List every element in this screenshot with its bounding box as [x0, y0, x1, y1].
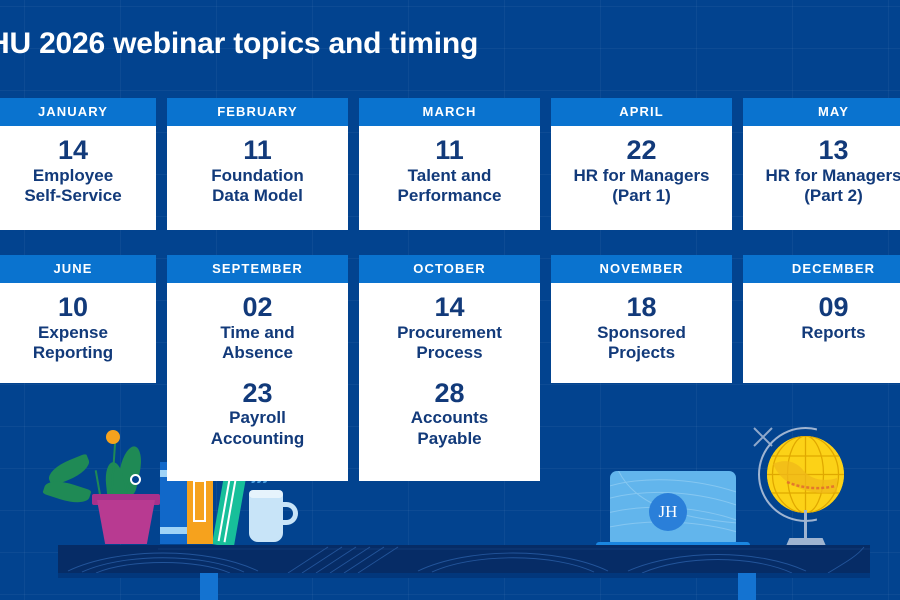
plant-pot-icon — [97, 500, 155, 544]
entry-day: 10 — [0, 292, 150, 322]
globe-stem — [804, 510, 807, 540]
entry-topic: Procurement Process — [365, 323, 534, 364]
entry-topic: HR for Managers (Part 2) — [749, 166, 900, 207]
entry-topic: Payroll Accounting — [173, 408, 342, 449]
month-card-header: NOVEMBER — [551, 255, 732, 283]
webinar-entry[interactable]: 14 Employee Self-Service — [0, 135, 150, 207]
month-card-body: 14 Procurement Process 28 Accounts Payab… — [359, 283, 540, 481]
month-card-header: APRIL — [551, 98, 732, 126]
month-card-january[interactable]: JANUARY 14 Employee Self-Service — [0, 98, 156, 230]
month-card-body: 14 Employee Self-Service — [0, 126, 156, 230]
month-card-september[interactable]: SEPTEMBER 02 Time and Absence 23 Payroll… — [167, 255, 348, 481]
webinar-entry[interactable]: 09 Reports — [749, 292, 900, 343]
month-card-header: FEBRUARY — [167, 98, 348, 126]
webinar-entry[interactable]: 14 Procurement Process — [365, 292, 534, 364]
webinar-entry[interactable]: 11 Talent and Performance — [365, 135, 534, 207]
webinar-entry[interactable]: 02 Time and Absence — [173, 292, 342, 364]
entry-topic: Time and Absence — [173, 323, 342, 364]
entry-day: 23 — [173, 378, 342, 408]
desk-leg — [738, 573, 756, 600]
entry-topic: Sponsored Projects — [557, 323, 726, 364]
month-card-body: 02 Time and Absence 23 Payroll Accountin… — [167, 283, 348, 481]
webinar-entry[interactable]: 28 Accounts Payable — [365, 378, 534, 450]
month-card-body: 11 Talent and Performance — [359, 126, 540, 230]
entry-topic: Expense Reporting — [0, 323, 150, 364]
entry-topic: Accounts Payable — [365, 408, 534, 449]
mug-icon — [249, 492, 283, 542]
month-card-body: 10 Expense Reporting — [0, 283, 156, 383]
entry-day: 18 — [557, 292, 726, 322]
month-card-header: SEPTEMBER — [167, 255, 348, 283]
month-card-header: MAY — [743, 98, 900, 126]
entry-topic: HR for Managers (Part 1) — [557, 166, 726, 207]
month-card-body: 13 HR for Managers (Part 2) — [743, 126, 900, 230]
month-card-october[interactable]: OCTOBER 14 Procurement Process 28 Accoun… — [359, 255, 540, 481]
jh-logo: JH — [649, 493, 687, 531]
entry-day: 13 — [749, 135, 900, 165]
globe-pin-icon — [752, 426, 774, 448]
entry-day: 09 — [749, 292, 900, 322]
month-card-may[interactable]: MAY 13 HR for Managers (Part 2) — [743, 98, 900, 230]
webinar-entry[interactable]: 10 Expense Reporting — [0, 292, 150, 364]
webinar-entry[interactable]: 18 Sponsored Projects — [557, 292, 726, 364]
page-title: HU 2026 webinar topics and timing — [0, 27, 628, 61]
entry-topic: Talent and Performance — [365, 166, 534, 207]
month-card-body: 18 Sponsored Projects — [551, 283, 732, 383]
month-card-november[interactable]: NOVEMBER 18 Sponsored Projects — [551, 255, 732, 383]
entry-day: 11 — [365, 135, 534, 165]
month-card-march[interactable]: MARCH 11 Talent and Performance — [359, 98, 540, 230]
desk-surface — [58, 545, 870, 573]
month-card-header: MARCH — [359, 98, 540, 126]
entry-day: 14 — [365, 292, 534, 322]
entry-day: 22 — [557, 135, 726, 165]
desk-leg — [200, 573, 218, 600]
entry-day: 14 — [0, 135, 150, 165]
mug-rim — [249, 490, 283, 498]
month-card-body: 11 Foundation Data Model — [167, 126, 348, 230]
month-card-body: 22 HR for Managers (Part 1) — [551, 126, 732, 230]
entry-topic: Reports — [749, 323, 900, 344]
book-orange-inner-frame — [193, 480, 206, 522]
book-blue-band — [160, 527, 187, 534]
month-card-header: JANUARY — [0, 98, 156, 126]
webinar-entry[interactable]: 13 HR for Managers (Part 2) — [749, 135, 900, 207]
month-card-body: 09 Reports — [743, 283, 900, 383]
webinar-entry[interactable]: 11 Foundation Data Model — [173, 135, 342, 207]
month-card-april[interactable]: APRIL 22 HR for Managers (Part 1) — [551, 98, 732, 230]
month-card-february[interactable]: FEBRUARY 11 Foundation Data Model — [167, 98, 348, 230]
entry-topic: Foundation Data Model — [173, 166, 342, 207]
month-card-june[interactable]: JUNE 10 Expense Reporting — [0, 255, 156, 383]
entry-topic: Employee Self-Service — [0, 166, 150, 207]
plant-bud-icon — [130, 474, 141, 485]
webinar-entry[interactable]: 22 HR for Managers (Part 1) — [557, 135, 726, 207]
globe-icon — [767, 436, 844, 513]
month-card-header: OCTOBER — [359, 255, 540, 283]
entry-day: 02 — [173, 292, 342, 322]
poster-canvas: HU 2026 webinar topics and timing JANUAR… — [0, 0, 900, 600]
month-card-header: JUNE — [0, 255, 156, 283]
month-card-header: DECEMBER — [743, 255, 900, 283]
plant-flower-icon — [106, 430, 120, 444]
entry-day: 11 — [173, 135, 342, 165]
entry-day: 28 — [365, 378, 534, 408]
webinar-entry[interactable]: 23 Payroll Accounting — [173, 378, 342, 450]
month-card-december[interactable]: DECEMBER 09 Reports — [743, 255, 900, 383]
